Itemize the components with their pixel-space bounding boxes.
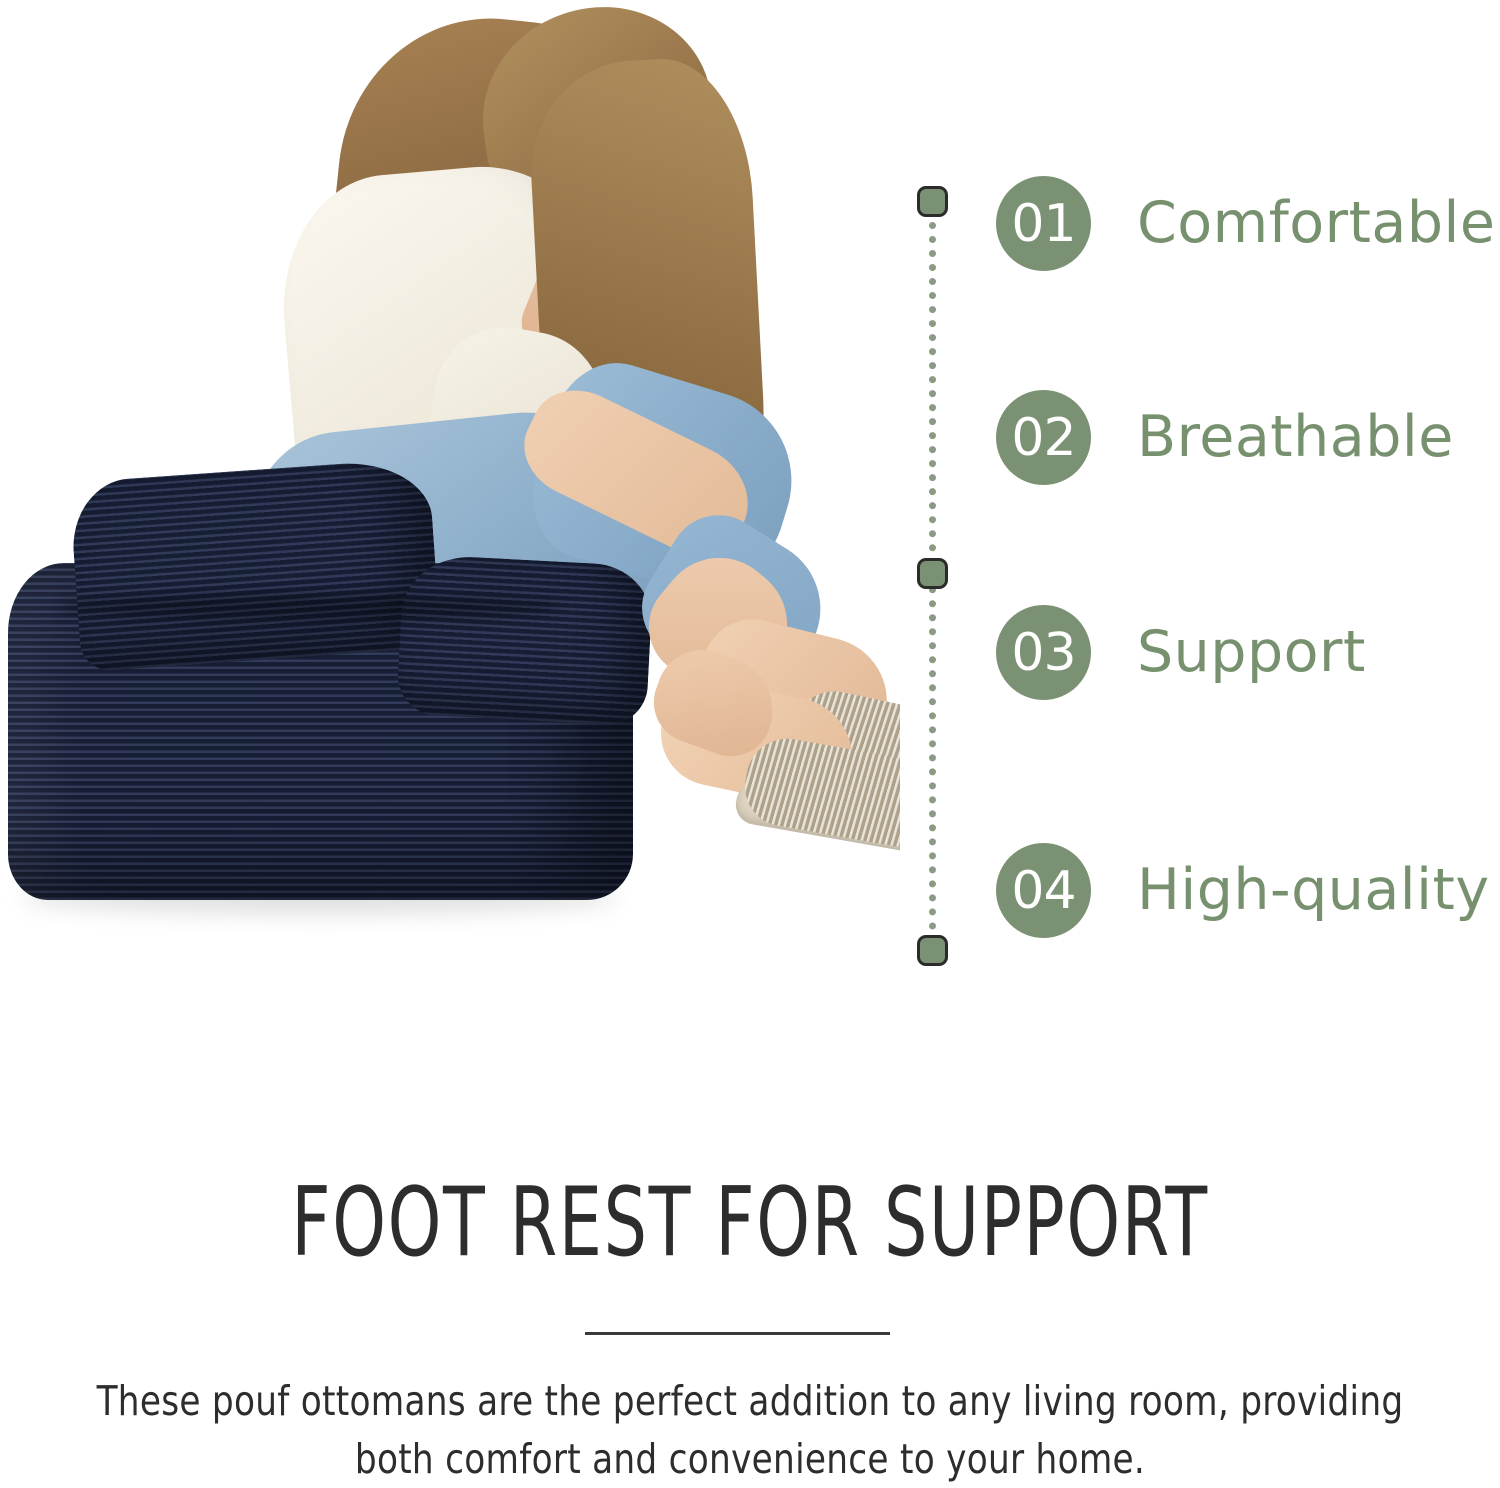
feature-number-badge: 01 — [996, 176, 1091, 271]
feature-label: Support — [1137, 624, 1366, 681]
timeline-node-top — [917, 186, 948, 217]
headline-divider — [585, 1332, 890, 1335]
feature-timeline — [917, 186, 947, 966]
product-lifestyle-photo — [0, 0, 900, 960]
feature-label: Comfortable — [1137, 195, 1495, 252]
pouf-ottoman-seam — [60, 594, 560, 620]
feature-label: High-quality — [1137, 862, 1490, 919]
feature-number-badge: 02 — [996, 390, 1091, 485]
feature-number: 04 — [1011, 865, 1075, 917]
feature-number-badge: 04 — [996, 843, 1091, 938]
feature-number: 01 — [1011, 198, 1075, 250]
feature-number: 02 — [1011, 412, 1075, 464]
feature-item-high-quality: 04 High-quality — [996, 843, 1490, 938]
feature-number-badge: 03 — [996, 605, 1091, 700]
pouf-ottoman-top-right — [396, 554, 654, 727]
feature-number: 03 — [1011, 627, 1075, 679]
page-subcopy: These pouf ottomans are the perfect addi… — [90, 1372, 1411, 1488]
feature-label: Breathable — [1137, 409, 1454, 466]
feature-item-comfortable: 01 Comfortable — [996, 176, 1495, 271]
timeline-node-middle — [917, 558, 948, 589]
feature-item-support: 03 Support — [996, 605, 1366, 700]
pouf-ottoman-top-left — [69, 458, 441, 673]
feature-item-breathable: 02 Breathable — [996, 390, 1454, 485]
timeline-node-bottom — [917, 935, 948, 966]
page-headline: FOOT REST FOR SUPPORT — [150, 1176, 1350, 1271]
hero-panel: 01 Comfortable 02 Breathable 03 Support … — [0, 0, 1500, 1060]
feature-list: 01 Comfortable 02 Breathable 03 Support … — [996, 0, 1500, 1060]
